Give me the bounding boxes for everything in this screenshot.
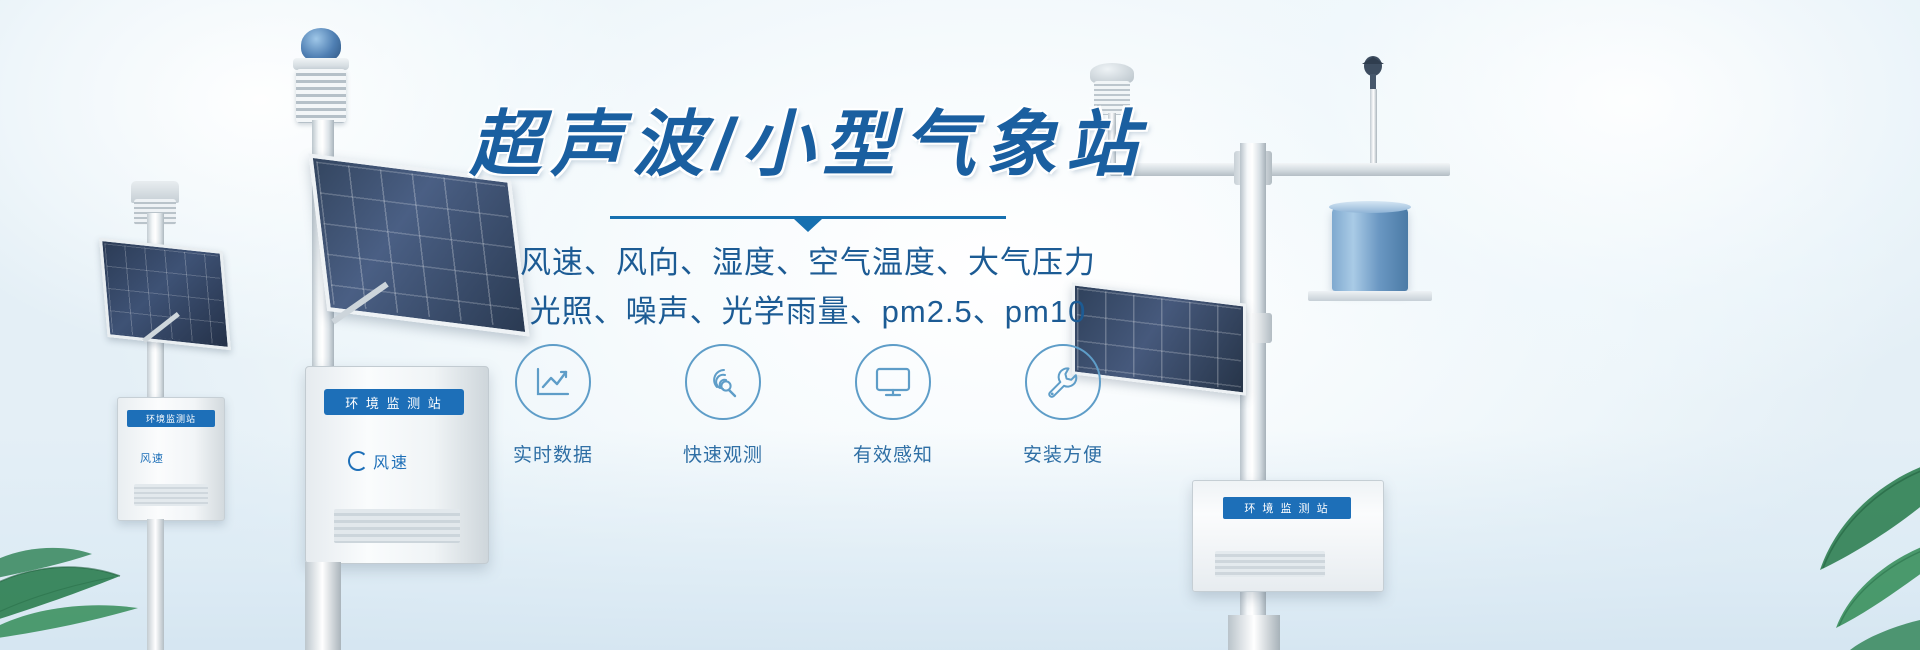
cabinet-tag: 环 境 监 测 站 bbox=[324, 389, 464, 415]
radiation-shield bbox=[296, 69, 346, 123]
weather-station-left: 环境监测站 风速 bbox=[95, 175, 285, 650]
cabinet-vent bbox=[334, 509, 460, 543]
banner-text-block: 超声波/小型气象站 风速、风向、湿度、空气温度、大气压力 光照、噪声、光学雨量、… bbox=[448, 108, 1168, 337]
ultrasonic-sensor-icon bbox=[1090, 63, 1134, 83]
base-pole bbox=[305, 562, 341, 650]
base-pole bbox=[1228, 615, 1280, 650]
rain-gauge-shelf bbox=[1308, 291, 1432, 301]
control-cabinet: 环 境 监 测 站 bbox=[1192, 480, 1384, 592]
feature-item-realtime-data[interactable]: 实时数据 bbox=[489, 344, 617, 467]
feature-icon-circle bbox=[855, 344, 931, 420]
banner-subtitle-line-2: 光照、噪声、光学雨量、pm2.5、pm10 bbox=[448, 288, 1168, 337]
feature-label: 安装方便 bbox=[999, 440, 1127, 467]
control-cabinet: 环境监测站 风速 bbox=[117, 397, 225, 521]
solar-panel bbox=[99, 238, 231, 350]
cabinet-tag: 环境监测站 bbox=[127, 410, 215, 427]
rain-gauge bbox=[1332, 207, 1408, 291]
wrench-icon bbox=[1044, 363, 1082, 401]
feature-icon-circle bbox=[515, 344, 591, 420]
cabinet-vent bbox=[134, 484, 208, 506]
feature-label: 快速观测 bbox=[659, 440, 787, 467]
feature-item-easy-installation[interactable]: 安装方便 bbox=[999, 344, 1127, 467]
feature-item-rapid-observation[interactable]: 快速观测 bbox=[659, 344, 787, 467]
radiation-dome-icon bbox=[301, 28, 341, 62]
wind-vane-icon bbox=[1356, 55, 1390, 91]
feature-icon-circle bbox=[685, 344, 761, 420]
banner-subtitle-line-1: 风速、风向、湿度、空气温度、大气压力 bbox=[448, 239, 1168, 288]
radar-signal-icon bbox=[704, 364, 742, 400]
feature-item-effective-sensing[interactable]: 有效感知 bbox=[829, 344, 957, 467]
lower-pole bbox=[147, 519, 164, 650]
headline-divider bbox=[610, 216, 1006, 219]
line-chart-icon bbox=[534, 366, 572, 398]
feature-list: 实时数据 快速观测 有效感知 bbox=[448, 344, 1168, 467]
product-banner: 环境监测站 风速 环 境 监 测 站 风速 bbox=[0, 0, 1920, 650]
leaf-decoration-right bbox=[1660, 420, 1920, 650]
monitor-icon bbox=[873, 365, 913, 399]
brand-mark-icon bbox=[348, 451, 368, 471]
banner-headline: 超声波/小型气象站 bbox=[448, 108, 1168, 184]
feature-label: 有效感知 bbox=[829, 440, 957, 467]
divider-triangle-icon bbox=[794, 219, 822, 232]
cabinet-tag: 环 境 监 测 站 bbox=[1223, 497, 1351, 519]
brand-logo: 风速 bbox=[140, 450, 164, 466]
feature-icon-circle bbox=[1025, 344, 1101, 420]
brand-logo: 风速 bbox=[348, 449, 409, 473]
brand-name: 风速 bbox=[373, 449, 409, 473]
wind-vane-stem bbox=[1370, 89, 1377, 167]
cabinet-vent bbox=[1215, 551, 1325, 577]
feature-label: 实时数据 bbox=[489, 440, 617, 467]
